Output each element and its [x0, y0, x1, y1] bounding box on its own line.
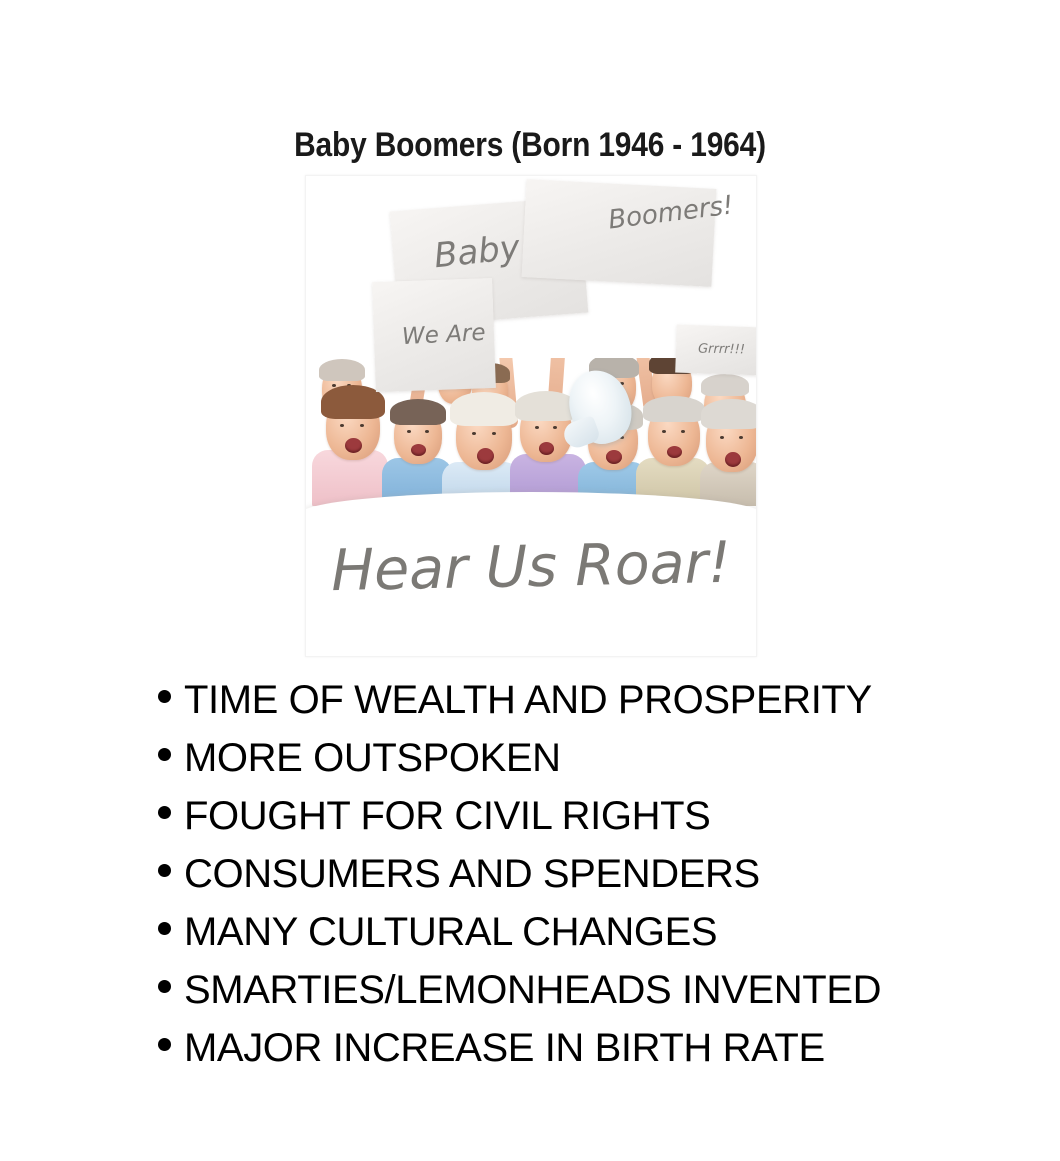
list-item-label: MAJOR INCREASE IN BIRTH RATE: [184, 1026, 825, 1071]
bullet-dot-icon: [158, 690, 171, 703]
list-item-label: SMARTIES/LEMONHEADS INVENTED: [184, 968, 881, 1013]
list-item: TIME OF WEALTH AND PROSPERITY: [158, 678, 1038, 736]
bullet-dot-icon: [158, 806, 171, 819]
megaphone-icon: [564, 368, 636, 460]
banner-caption: Hear Us Roar!: [305, 529, 757, 605]
list-item-label: MORE OUTSPOKEN: [184, 736, 561, 781]
photo-stage: Baby Boomers! We Are Grrrr!!!: [306, 176, 756, 656]
list-item: CONSUMERS AND SPENDERS: [158, 852, 1038, 910]
crowd-of-people: [306, 358, 756, 506]
list-item-label: TIME OF WEALTH AND PROSPERITY: [184, 678, 872, 723]
person-head: [326, 394, 380, 460]
bullet-list: TIME OF WEALTH AND PROSPERITY MORE OUTSP…: [158, 678, 1038, 1084]
bullet-dot-icon: [158, 1038, 171, 1051]
person-head: [394, 406, 442, 464]
list-item-label: FOUGHT FOR CIVIL RIGHTS: [184, 794, 710, 839]
sign-text-grrr: Grrrr!!!: [698, 342, 745, 358]
list-item: MANY CULTURAL CHANGES: [158, 910, 1038, 968]
list-item: FOUGHT FOR CIVIL RIGHTS: [158, 794, 1038, 852]
list-item-label: CONSUMERS AND SPENDERS: [184, 852, 760, 897]
list-item-label: MANY CULTURAL CHANGES: [184, 910, 717, 955]
bullet-dot-icon: [158, 980, 171, 993]
sign-text-we-are: We Are: [401, 320, 486, 350]
person-head: [706, 408, 756, 472]
slide-image: Baby Boomers! We Are Grrrr!!!: [305, 175, 757, 657]
person-head: [648, 404, 700, 466]
list-item: MORE OUTSPOKEN: [158, 736, 1038, 794]
person-head: [456, 402, 512, 470]
page-title: Baby Boomers (Born 1946 - 1964): [64, 126, 997, 165]
list-item: MAJOR INCREASE IN BIRTH RATE: [158, 1026, 1038, 1084]
bullet-dot-icon: [158, 922, 171, 935]
bullet-dot-icon: [158, 748, 171, 761]
banner-placard: Hear Us Roar!: [305, 492, 757, 656]
list-item: SMARTIES/LEMONHEADS INVENTED: [158, 968, 1038, 1026]
bullet-dot-icon: [158, 864, 171, 877]
